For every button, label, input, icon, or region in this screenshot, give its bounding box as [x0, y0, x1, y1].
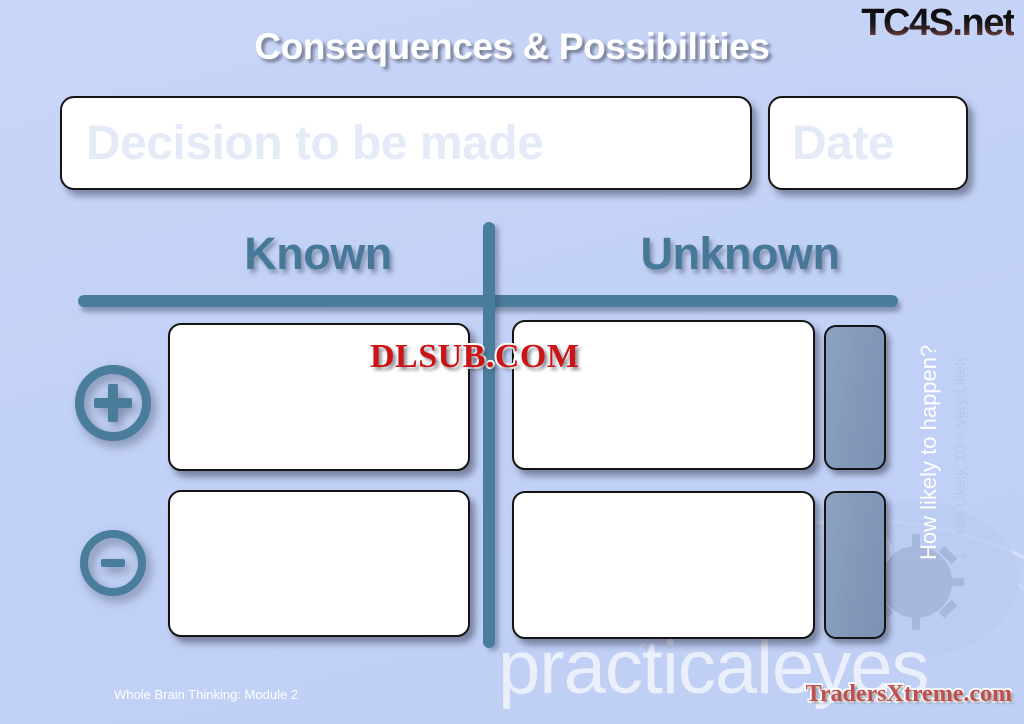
vertical-divider — [483, 222, 495, 648]
decision-placeholder: Decision to be made — [86, 116, 543, 171]
footer-note: Whole Brain Thinking: Module 2 — [114, 687, 298, 702]
date-input[interactable]: Date — [768, 96, 968, 190]
worksheet-slide: practicaleyes TC4S.net Consequences & Po… — [0, 0, 1024, 724]
page-title: Consequences & Possibilities — [0, 26, 1024, 68]
decision-input[interactable]: Decision to be made — [60, 96, 752, 190]
likelihood-question: How likely to happen? — [918, 345, 940, 560]
minus-icon — [80, 530, 146, 596]
minus-bar — [101, 559, 125, 567]
column-header-known: Known — [168, 228, 468, 280]
dlsub-watermark: DLSUB.COM — [370, 338, 579, 376]
column-header-unknown: Unknown — [590, 228, 890, 280]
likelihood-legend: How likely to happen? 1 = Not Likely, 10… — [902, 300, 1022, 560]
plus-icon — [75, 365, 151, 441]
plus-bar-vertical — [108, 384, 118, 422]
cell-unknown-negative[interactable] — [512, 491, 815, 639]
likelihood-rating-negative[interactable] — [824, 491, 886, 639]
likelihood-rating-positive[interactable] — [824, 325, 886, 470]
date-placeholder: Date — [792, 116, 894, 171]
likelihood-scale: 1 = Not Likely, 10 = Very Likely — [953, 355, 968, 560]
tradersxtreme-logo: TradersXtreme.com — [806, 681, 1012, 708]
cell-known-negative[interactable] — [168, 490, 470, 637]
